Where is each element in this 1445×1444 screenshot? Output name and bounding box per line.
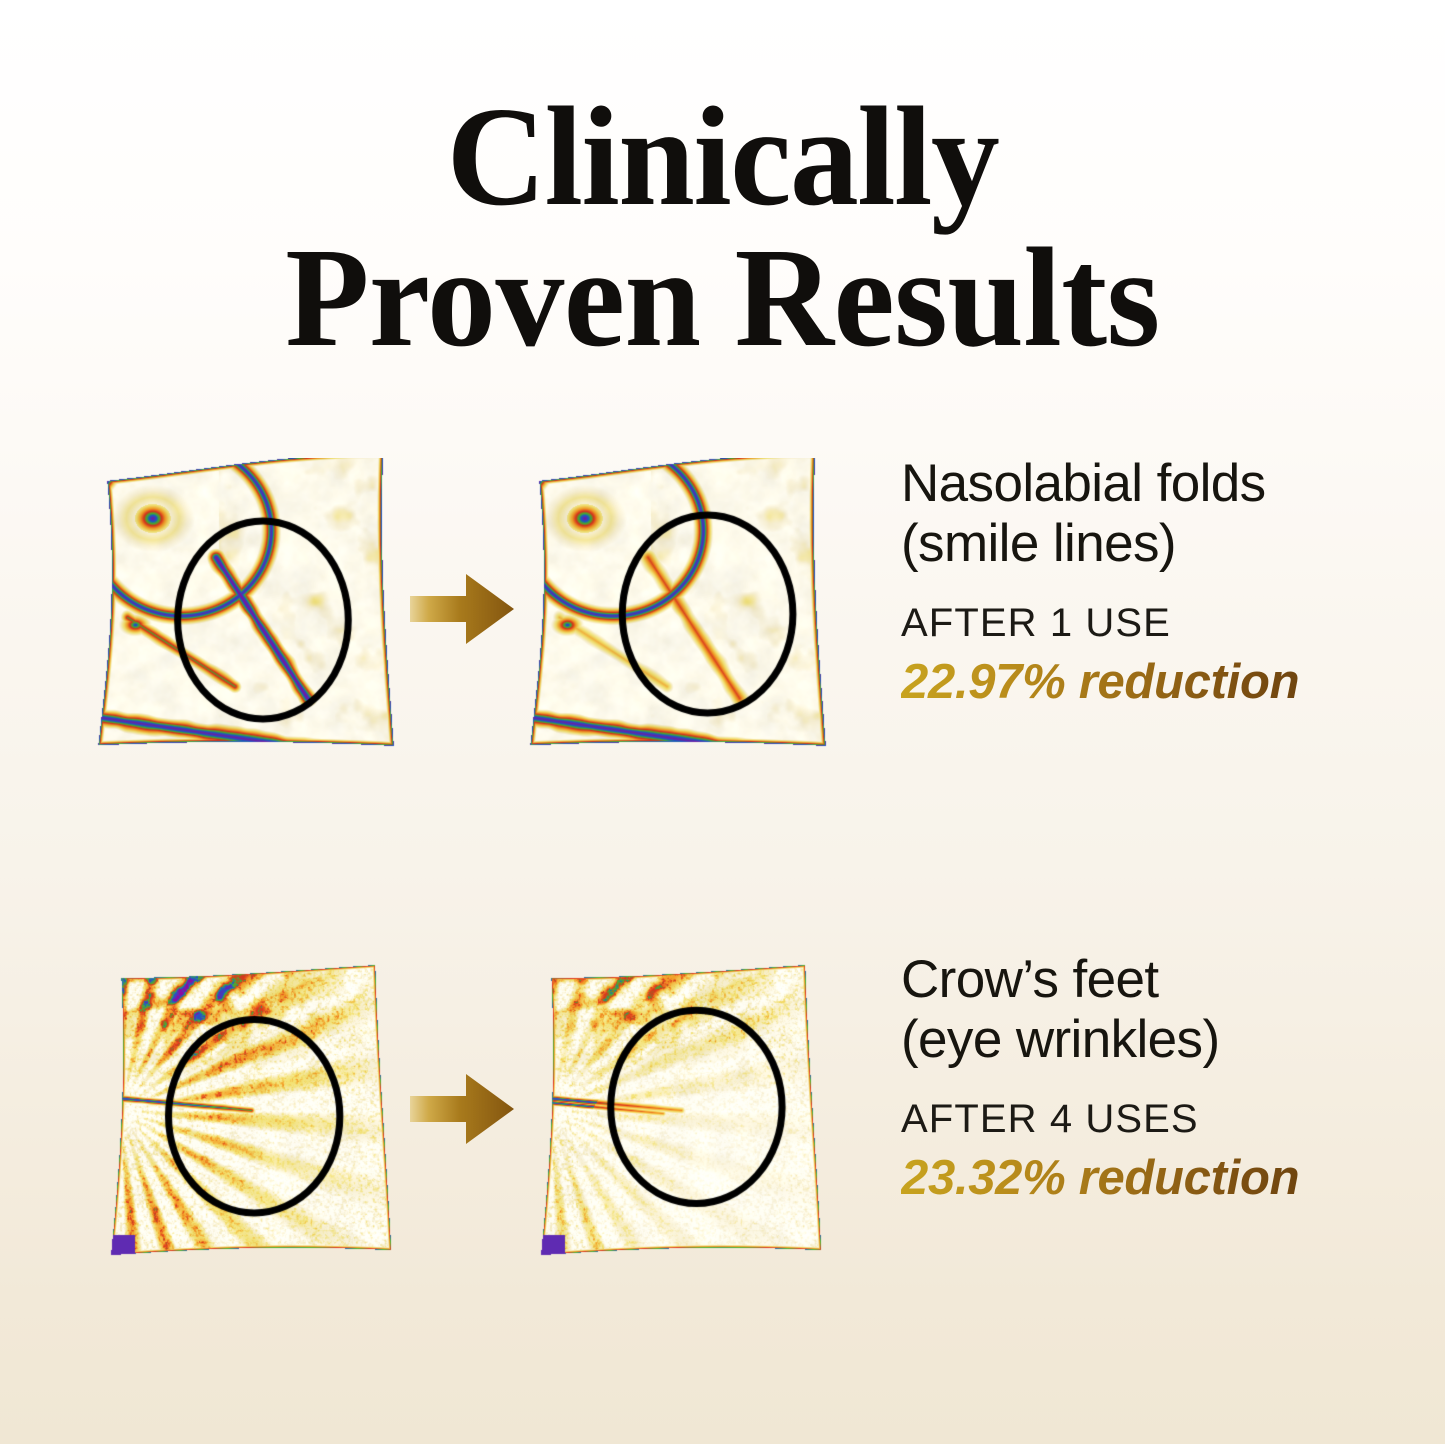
page-title-line-1: Clinically bbox=[22, 86, 1424, 227]
crows-feet-before-scan bbox=[92, 954, 398, 1266]
nasolabial-after-scan bbox=[518, 458, 834, 758]
nasolabial-after-label: AFTER 1 USE bbox=[901, 601, 1421, 646]
nasolabial-before-scan bbox=[86, 458, 402, 758]
crows-feet-after-scan bbox=[522, 954, 828, 1266]
result-row-nasolabial-folds: Nasolabial folds (smile lines) AFTER 1 U… bbox=[0, 440, 1445, 770]
result-row-crows-feet: Crow’s feet (eye wrinkles) AFTER 4 USES … bbox=[0, 938, 1445, 1278]
right-arrow-icon bbox=[410, 1068, 514, 1150]
crows-feet-text-block: Crow’s feet (eye wrinkles) AFTER 4 USES … bbox=[901, 950, 1421, 1206]
crows-feet-feature-name: Crow’s feet (eye wrinkles) bbox=[901, 950, 1421, 1071]
nasolabial-reduction-value: 22.97% reduction bbox=[901, 654, 1299, 710]
page-title-line-2: Proven Results bbox=[22, 227, 1424, 368]
right-arrow-icon bbox=[410, 568, 514, 650]
crows-feet-reduction-value: 23.32% reduction bbox=[901, 1150, 1299, 1206]
clinical-results-infographic: Clinically Proven Results bbox=[0, 0, 1445, 1444]
crows-feet-after-label: AFTER 4 USES bbox=[901, 1097, 1421, 1142]
nasolabial-text-block: Nasolabial folds (smile lines) AFTER 1 U… bbox=[901, 454, 1421, 710]
page-title: Clinically Proven Results bbox=[0, 86, 1445, 367]
nasolabial-feature-name: Nasolabial folds (smile lines) bbox=[901, 454, 1421, 575]
